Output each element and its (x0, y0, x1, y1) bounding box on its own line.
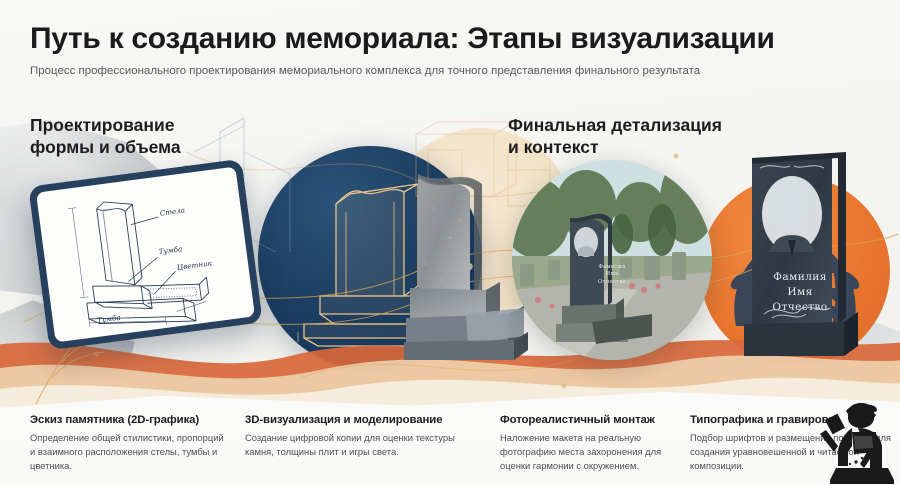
tablet-screen: Стела Тумба Цветник Тумба (36, 167, 255, 343)
page-title: Путь к созданию мемориала: Этапы визуали… (30, 22, 870, 56)
monument-body (738, 152, 862, 368)
section-heading-design-line2: формы и объема (30, 136, 181, 158)
plaque-line-3: Отчество (738, 300, 862, 315)
infographic-page: Путь к созданию мемориала: Этапы визуали… (0, 0, 900, 485)
caption-sketch-body: Определение общей стилистики, пропорций … (30, 431, 230, 473)
caption-modeling-body: Создание цифровой копии для оценки текст… (245, 431, 480, 459)
page-subtitle: Процесс профессионального проектирования… (30, 65, 870, 77)
dark-monument-with-portrait: Фамилия Имя Отчество (738, 152, 862, 368)
caption-montage-body: Наложение макета на реальную фотографию … (500, 431, 680, 473)
stonemason-icon (808, 402, 894, 484)
section-heading-final: Финальная детализация и контекст (508, 114, 722, 159)
caption-montage: Фотореалистичный монтаж Наложение макета… (500, 414, 680, 473)
tablet-device: Стела Тумба Цветник Тумба (28, 159, 263, 351)
section-heading-design: Проектирование формы и объема (30, 114, 181, 159)
caption-modeling: 3D-визуализация и моделирование Создание… (245, 414, 480, 459)
cemetery-scene (512, 160, 712, 360)
section-heading-final-line2: и контекст (508, 136, 722, 158)
caption-sketch-title: Эскиз памятника (2D-графика) (30, 414, 230, 426)
photo-plaque-text: Фамилия Имя Отчество (512, 264, 712, 286)
header: Путь к созданию мемориала: Этапы визуали… (0, 0, 900, 77)
plaque-line-2: Имя (738, 285, 862, 300)
plaque-line-1: Фамилия (738, 270, 862, 285)
memorial-sketch-drawing (36, 167, 255, 343)
caption-sketch: Эскиз памятника (2D-графика) Определение… (30, 414, 230, 473)
section-heading-design-line1: Проектирование (30, 114, 181, 136)
monument-plaque-text: Фамилия Имя Отчество (738, 270, 862, 315)
section-heading-final-line1: Финальная детализация (508, 114, 722, 136)
caption-modeling-title: 3D-визуализация и моделирование (245, 414, 480, 426)
cemetery-photo-montage: Фамилия Имя Отчество (512, 160, 712, 360)
caption-montage-title: Фотореалистичный монтаж (500, 414, 680, 426)
